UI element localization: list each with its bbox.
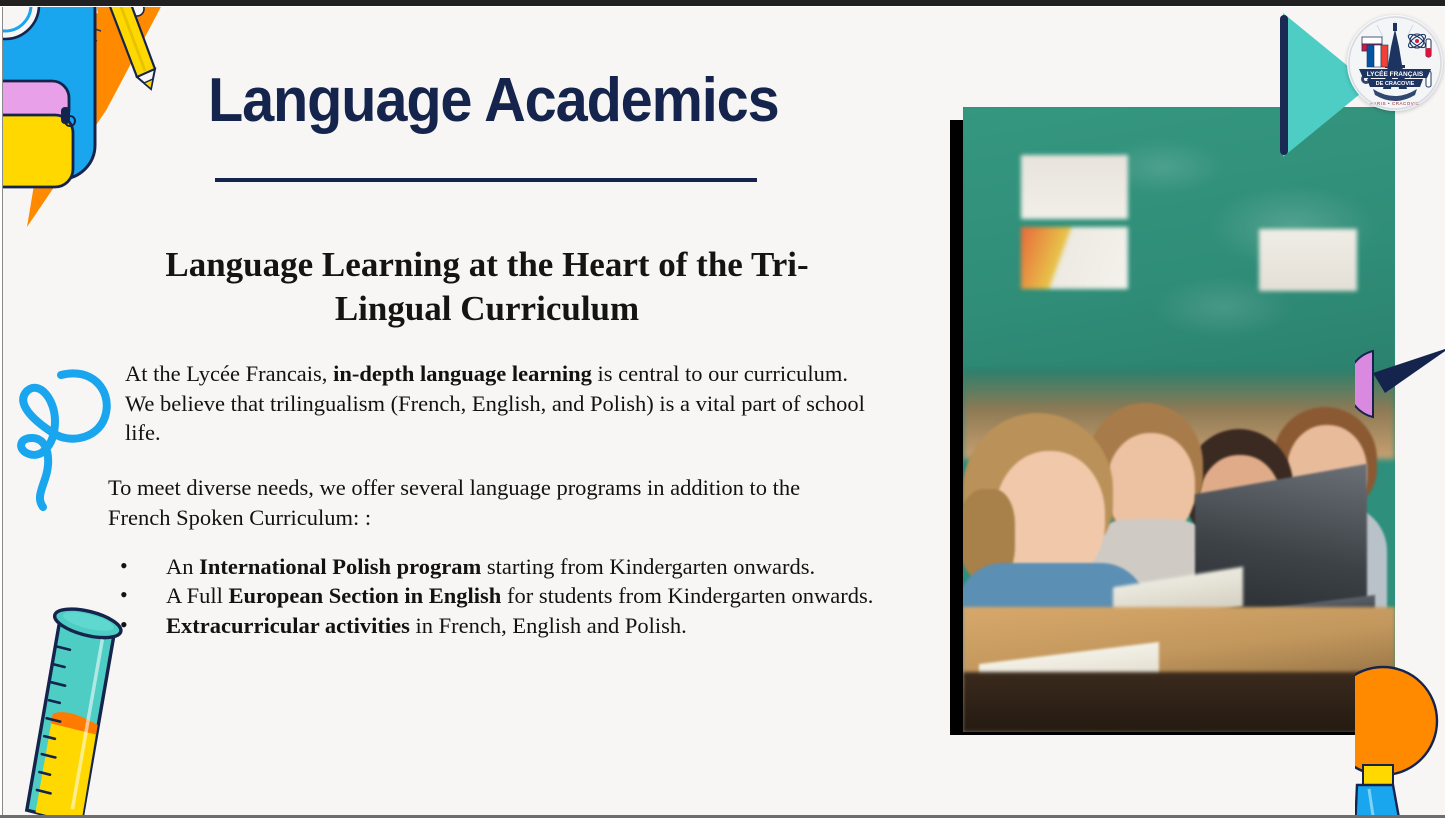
list-item-text: An International Polish program starting… xyxy=(166,552,883,581)
poster-top xyxy=(1021,155,1128,219)
title-block: Language Academics xyxy=(208,69,778,132)
app-chrome-top-bar xyxy=(0,0,1445,6)
decoration-test-tube xyxy=(3,607,148,815)
crest-line2: DE CRACOVIE xyxy=(1376,81,1415,87)
decoration-backpack-cluster xyxy=(2,7,197,247)
desk-front xyxy=(963,672,1395,732)
violet-shape-icon xyxy=(1355,347,1445,417)
backpack-body-icon xyxy=(2,7,95,187)
decoration-right-edge-cluster xyxy=(1355,337,1445,815)
list-item: • Extracurricular activities in French, … xyxy=(108,611,883,640)
list-item: • An International Polish program starti… xyxy=(108,552,883,581)
orange-circle-icon xyxy=(1355,667,1437,775)
blue-squiggle-icon xyxy=(5,359,125,514)
classroom-photo xyxy=(963,107,1395,732)
paragraph-intro: At the Lycée Francais, in-depth language… xyxy=(125,359,865,448)
school-crest[interactable]: LYCÉE FRANÇAIS DE CRACOVIE PARIS • CRACO… xyxy=(1347,15,1443,111)
body-copy: At the Lycée Francais, in-depth language… xyxy=(108,359,868,532)
bullet-marker: • xyxy=(108,552,166,581)
poster-right xyxy=(1259,229,1357,291)
backpack-icon xyxy=(2,7,197,247)
list-item: • A Full European Section in English for… xyxy=(108,581,883,610)
test-tube-icon xyxy=(3,607,148,815)
teal-triangle-navy-edge xyxy=(1280,15,1288,155)
subtitle: Language Learning at the Heart of the Tr… xyxy=(123,243,851,331)
page-title: Language Academics xyxy=(208,69,738,132)
list-item-text: A Full European Section in English for s… xyxy=(166,581,883,610)
decoration-blue-squiggle xyxy=(5,359,125,514)
poster-chart xyxy=(1021,227,1128,289)
bullet-marker: • xyxy=(108,581,166,610)
slide-canvas: LYCÉE FRANÇAIS DE CRACOVIE PARIS • CRACO… xyxy=(2,7,1445,815)
crest-line1: LYCÉE FRANÇAIS xyxy=(1367,69,1424,78)
school-crest-icon: LYCÉE FRANÇAIS DE CRACOVIE PARIS • CRACO… xyxy=(1347,15,1443,111)
paragraph-offer: To meet diverse needs, we offer several … xyxy=(108,473,863,532)
list-item-text: Extracurricular activities in French, En… xyxy=(166,611,883,640)
program-list: • An International Polish program starti… xyxy=(108,552,883,640)
flag-france xyxy=(1367,45,1388,67)
title-underline-rule xyxy=(215,178,757,182)
